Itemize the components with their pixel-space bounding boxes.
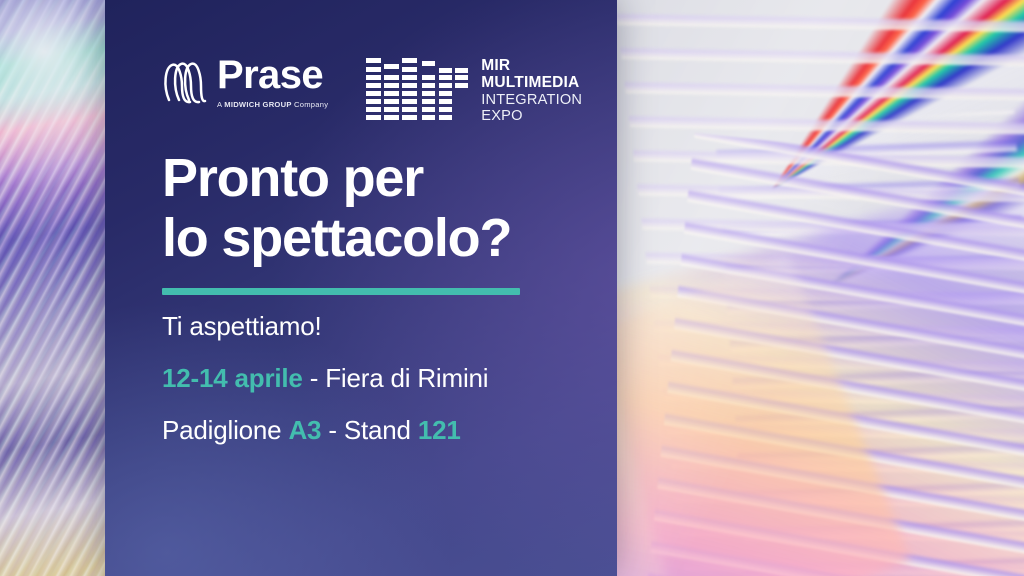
prase-wordmark: Prase [217, 55, 328, 96]
headline: Pronto per lo spettacolo? [162, 148, 511, 269]
stand-label: Stand [344, 415, 418, 445]
hall-stand-line: Padiglione A3 - Stand 121 [162, 417, 592, 443]
dash-separator-1: - [303, 363, 326, 393]
content-panel: Prase A MIDWICH GROUP Company [105, 0, 617, 576]
mir-line-3: INTEGRATION [481, 92, 582, 108]
prase-tagline: A MIDWICH GROUP Company [217, 100, 328, 109]
accent-divider [162, 288, 520, 295]
highlight-glow-left [0, 0, 112, 190]
tagline-suffix: Company [292, 100, 329, 109]
mir-equalizer-bars-icon [366, 56, 468, 126]
tagline-group: MIDWICH GROUP [224, 100, 291, 109]
mir-line-1: MIR [481, 57, 582, 74]
hall-label: Padiglione [162, 415, 288, 445]
event-dates: 12-14 aprile [162, 363, 303, 393]
stand-number: 121 [418, 415, 461, 445]
prase-logo: Prase A MIDWICH GROUP Company [162, 55, 328, 109]
logo-row: Prase A MIDWICH GROUP Company [162, 55, 582, 126]
background-art-left [0, 0, 112, 576]
event-venue: Fiera di Rimini [325, 363, 488, 393]
date-venue-line: 12-14 aprile - Fiera di Rimini [162, 365, 592, 391]
sheen-overlay-right [612, 0, 1024, 576]
prase-wave-monogram-icon [162, 56, 208, 108]
invitation-line: Ti aspettiamo! [162, 313, 592, 339]
promotional-banner: Prase A MIDWICH GROUP Company [0, 0, 1024, 576]
mir-line-4: EXPO [481, 108, 582, 124]
mir-logo: MIR MULTIMEDIA INTEGRATION EXPO [366, 56, 582, 126]
hall-number: A3 [288, 415, 321, 445]
event-details: Ti aspettiamo! 12-14 aprile - Fiera di R… [162, 313, 592, 443]
dash-separator-2: - [321, 415, 344, 445]
mir-line-2: MULTIMEDIA [481, 74, 582, 91]
background-art-right [612, 0, 1024, 576]
